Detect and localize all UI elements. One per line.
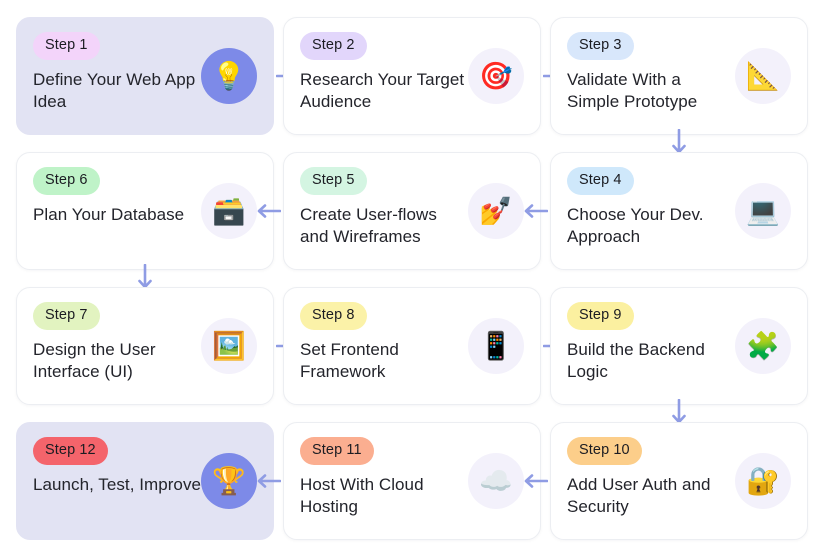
step-badge-6: Step 6	[33, 167, 100, 195]
step-card-11[interactable]: Step 11 Host With Cloud Hosting ☁️	[283, 422, 541, 540]
arrow-left-10-to-11	[519, 471, 549, 491]
step-title-3: Validate With a Simple Prototype	[567, 69, 735, 115]
cloud-icon: ☁️	[468, 453, 524, 509]
flow-cell-4: Step 4 Choose Your Dev. Approach 💻	[550, 152, 808, 270]
flow-cell-5: Step 5 Create User-flows and Wireframes …	[283, 152, 541, 270]
flow-cell-2: Step 2 Research Your Target Audience 🎯	[283, 17, 541, 135]
flow-cell-1: Step 1 Define Your Web App Idea 💡	[16, 17, 274, 135]
step-card-6[interactable]: Step 6 Plan Your Database 🗃️	[16, 152, 274, 270]
step-card-5[interactable]: Step 5 Create User-flows and Wireframes …	[283, 152, 541, 270]
step-badge-12: Step 12	[33, 437, 108, 465]
flow-cell-12: Step 12 Launch, Test, Improve 🏆	[16, 422, 274, 540]
flow-cell-9: Step 9 Build the Backend Logic 🧩	[550, 287, 808, 405]
step-badge-1: Step 1	[33, 32, 100, 60]
step-title-2: Research Your Target Audience	[300, 69, 468, 115]
step-title-4: Choose Your Dev. Approach	[567, 204, 735, 250]
flow-cell-11: Step 11 Host With Cloud Hosting ☁️	[283, 422, 541, 540]
step-badge-4: Step 4	[567, 167, 634, 195]
step-badge-9: Step 9	[567, 302, 634, 330]
step-badge-5: Step 5	[300, 167, 367, 195]
step-card-7[interactable]: Step 7 Design the User Interface (UI) 🖼️	[16, 287, 274, 405]
step-title-12: Launch, Test, Improve	[33, 474, 201, 497]
triangular-ruler-icon: 📐	[735, 48, 791, 104]
step-title-6: Plan Your Database	[33, 204, 201, 227]
step-card-3[interactable]: Step 3 Validate With a Simple Prototype …	[550, 17, 808, 135]
lightbulb-icon: 💡	[201, 48, 257, 104]
step-title-8: Set Frontend Framework	[300, 339, 468, 385]
arrow-left-4-to-5	[519, 201, 549, 221]
step-card-12[interactable]: Step 12 Launch, Test, Improve 🏆	[16, 422, 274, 540]
flow-cell-10: Step 10 Add User Auth and Security 🔐	[550, 422, 808, 540]
target-dart-icon: 🎯	[468, 48, 524, 104]
step-title-5: Create User-flows and Wireframes	[300, 204, 468, 250]
mobile-apps-icon: 📱	[468, 318, 524, 374]
step-badge-3: Step 3	[567, 32, 634, 60]
flow-cell-8: Step 8 Set Frontend Framework 📱	[283, 287, 541, 405]
step-title-10: Add User Auth and Security	[567, 474, 735, 520]
flowchart-diagram: Step 1 Define Your Web App Idea 💡 Step 2…	[0, 0, 828, 558]
flow-cell-7: Step 7 Design the User Interface (UI) 🖼️	[16, 287, 274, 405]
flow-cell-6: Step 6 Plan Your Database 🗃️	[16, 152, 274, 270]
flow-cell-3: Step 3 Validate With a Simple Prototype …	[550, 17, 808, 135]
step-badge-7: Step 7	[33, 302, 100, 330]
puzzle-piece-icon: 🧩	[735, 318, 791, 374]
arrow-left-5-to-6	[252, 201, 282, 221]
laptop-icon: 💻	[735, 183, 791, 239]
step-card-1[interactable]: Step 1 Define Your Web App Idea 💡	[16, 17, 274, 135]
framed-picture-icon: 🖼️	[201, 318, 257, 374]
flow-row-2: Step 6 Plan Your Database 🗃️ Step 5 Crea…	[16, 152, 812, 270]
flow-row-1: Step 1 Define Your Web App Idea 💡 Step 2…	[16, 17, 812, 135]
arrow-left-11-to-12	[252, 471, 282, 491]
step-title-7: Design the User Interface (UI)	[33, 339, 201, 385]
step-badge-8: Step 8	[300, 302, 367, 330]
locked-with-key-icon: 🔐	[735, 453, 791, 509]
step-badge-11: Step 11	[300, 437, 374, 465]
step-card-4[interactable]: Step 4 Choose Your Dev. Approach 💻	[550, 152, 808, 270]
step-card-8[interactable]: Step 8 Set Frontend Framework 📱	[283, 287, 541, 405]
step-card-2[interactable]: Step 2 Research Your Target Audience 🎯	[283, 17, 541, 135]
step-title-11: Host With Cloud Hosting	[300, 474, 468, 520]
flow-row-4: Step 12 Launch, Test, Improve 🏆 Step 11 …	[16, 422, 812, 540]
trophy-icon: 🏆	[201, 453, 257, 509]
step-badge-2: Step 2	[300, 32, 367, 60]
step-card-10[interactable]: Step 10 Add User Auth and Security 🔐	[550, 422, 808, 540]
step-card-9[interactable]: Step 9 Build the Backend Logic 🧩	[550, 287, 808, 405]
step-badge-10: Step 10	[567, 437, 642, 465]
card-file-box-icon: 🗃️	[201, 183, 257, 239]
step-title-9: Build the Backend Logic	[567, 339, 735, 385]
step-title-1: Define Your Web App Idea	[33, 69, 201, 115]
nail-polish-icon: 💅	[468, 183, 524, 239]
flow-row-3: Step 7 Design the User Interface (UI) 🖼️…	[16, 287, 812, 405]
